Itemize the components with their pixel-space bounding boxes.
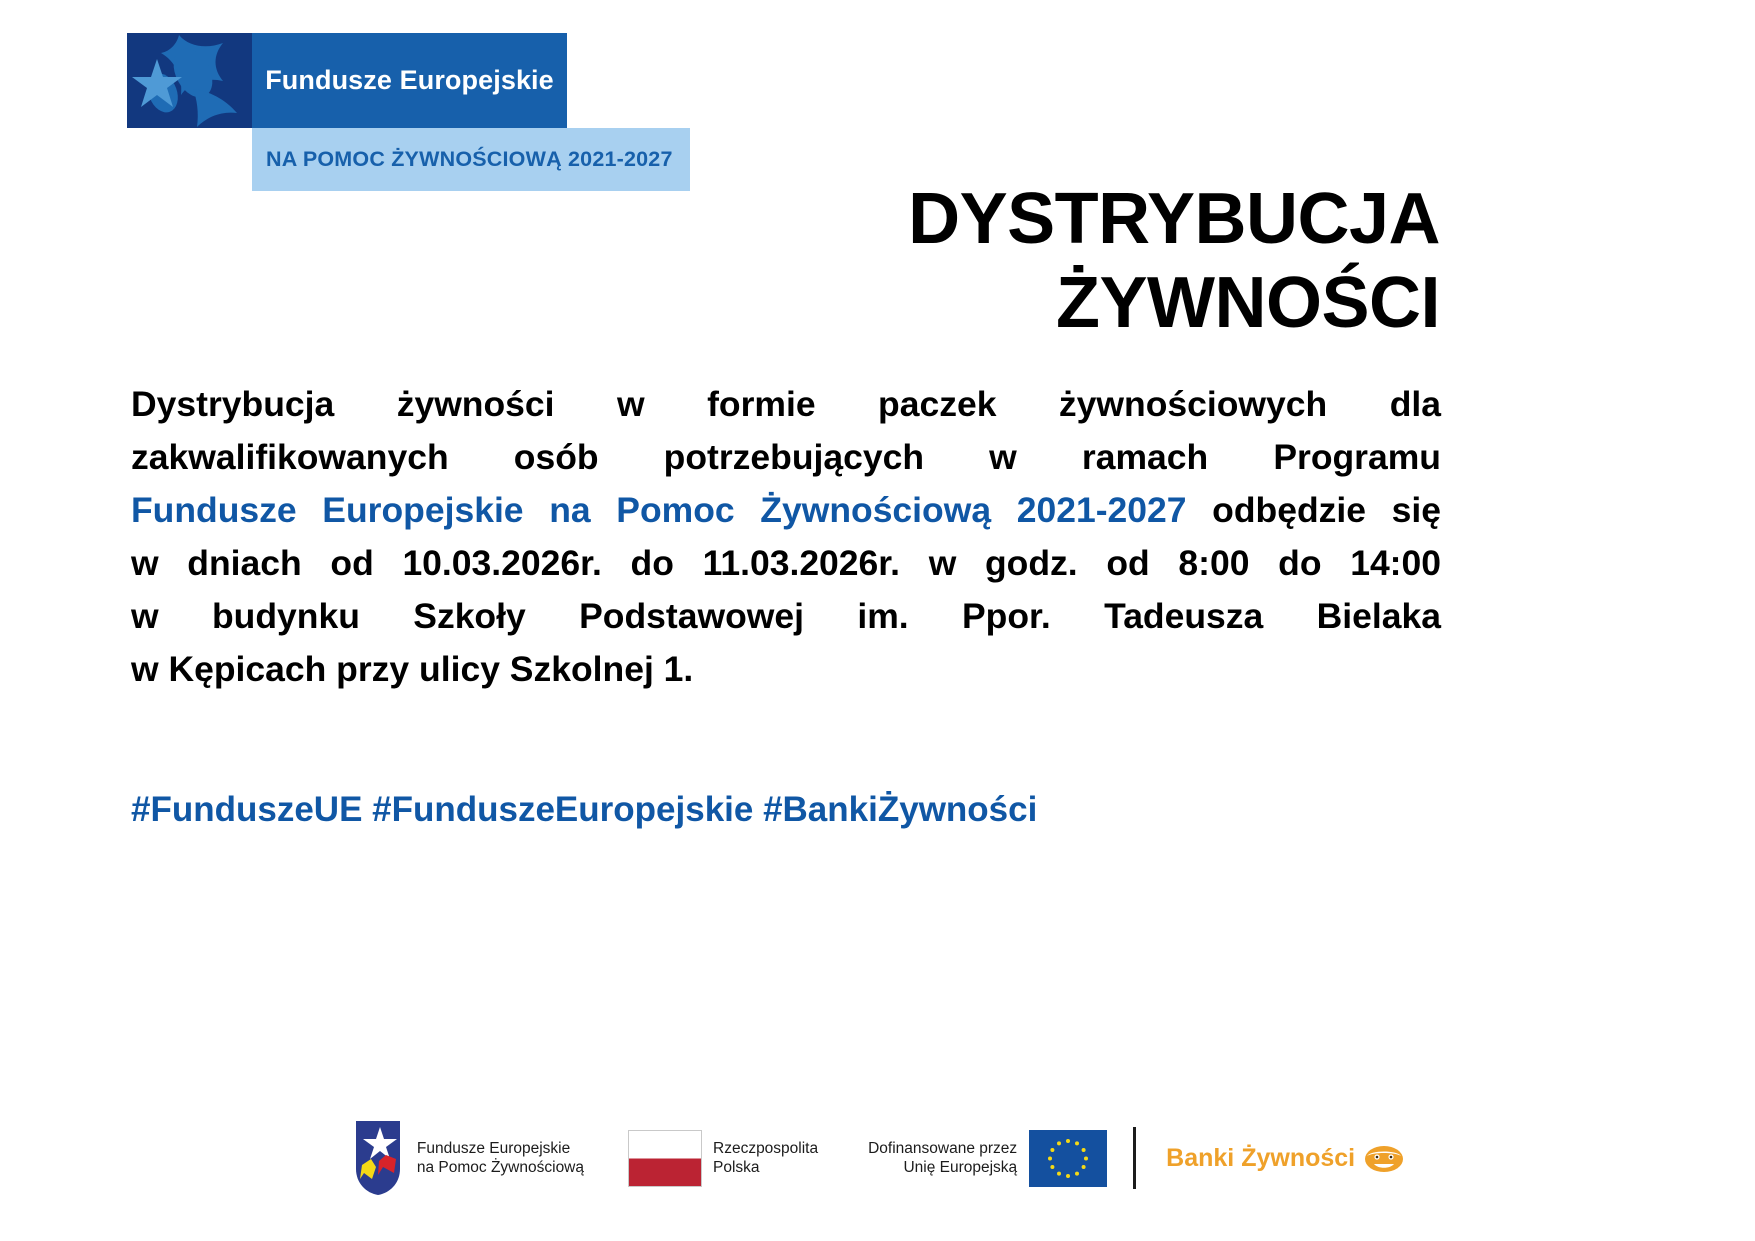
footer-poland-label-line-1: Rzeczpospolita	[713, 1140, 818, 1157]
footer-eu-logo: Dofinansowane przez Unię Europejską	[868, 1119, 1107, 1197]
eu-stars-flag-icon	[350, 1119, 406, 1197]
footer-divider	[1133, 1127, 1136, 1189]
fepz-program-logo: Fundusze Europejskie NA POMOC ŻYWNOŚCIOW…	[127, 33, 690, 191]
fepz-program-subtitle: NA POMOC ŻYWNOŚCIOWĄ 2021-2027	[252, 147, 673, 172]
footer-poland-label-line-2: Polska	[713, 1158, 818, 1177]
program-name-accent: Fundusze Europejskie na Pomoc Żywnościow…	[131, 490, 1187, 530]
hashtags: #FunduszeUE #FunduszeEuropejskie #BankiŻ…	[131, 790, 1037, 830]
body-line-2: zakwalifikowanych osób potrzebujących w …	[131, 431, 1441, 484]
footer-banki-zywnosci-logo: Banki Żywności	[1166, 1119, 1405, 1197]
page-title-line-2: ŻYWNOŚCI	[440, 262, 1440, 346]
page-title-line-1: DYSTRYBUCJA	[440, 178, 1440, 262]
body-line-4: w dniach od 10.03.2026r. do 11.03.2026r.…	[131, 537, 1441, 590]
footer-logo-strip: Fundusze Europejskie na Pomoc Żywnościow…	[0, 1108, 1755, 1208]
page-title: DYSTRYBUCJA ŻYWNOŚCI	[440, 178, 1440, 345]
footer-banki-label: Banki Żywności	[1166, 1144, 1355, 1173]
footer-eu-label-line-1: Dofinansowane przez	[868, 1140, 1017, 1157]
body-line-6: w Kępicach przy ulicy Szkolnej 1.	[131, 643, 1441, 696]
body-line-3-rest: odbędzie się	[1187, 490, 1441, 530]
footer-fepz-logo: Fundusze Europejskie na Pomoc Żywnościow…	[350, 1119, 584, 1197]
footer-eu-label: Dofinansowane przez Unię Europejską	[868, 1139, 1017, 1177]
footer-fepz-label-line-2: na Pomoc Żywnościową	[417, 1158, 584, 1177]
poland-flag-icon	[628, 1130, 702, 1187]
announcement-body: Dystrybucja żywności w formie paczek żyw…	[131, 378, 1441, 696]
footer-fepz-label-line-1: Fundusze Europejskie	[417, 1140, 570, 1157]
fepz-stars-mark	[127, 33, 252, 128]
eu-flag-icon	[1029, 1130, 1107, 1187]
banki-zywnosci-mascot-icon	[1363, 1142, 1405, 1174]
body-line-5: w budynku Szkoły Podstawowej im. Ppor. T…	[131, 590, 1441, 643]
footer-eu-label-line-2: Unię Europejską	[868, 1158, 1017, 1177]
body-line-1: Dystrybucja żywności w formie paczek żyw…	[131, 378, 1441, 431]
fepz-program-name-box: Fundusze Europejskie	[252, 33, 567, 128]
body-line-3: Fundusze Europejskie na Pomoc Żywnościow…	[131, 484, 1441, 537]
footer-poland-label: Rzeczpospolita Polska	[713, 1139, 818, 1177]
footer-poland-logo: Rzeczpospolita Polska	[628, 1119, 818, 1197]
fepz-program-name: Fundusze Europejskie	[265, 65, 554, 96]
footer-fepz-label: Fundusze Europejskie na Pomoc Żywnościow…	[417, 1139, 584, 1177]
